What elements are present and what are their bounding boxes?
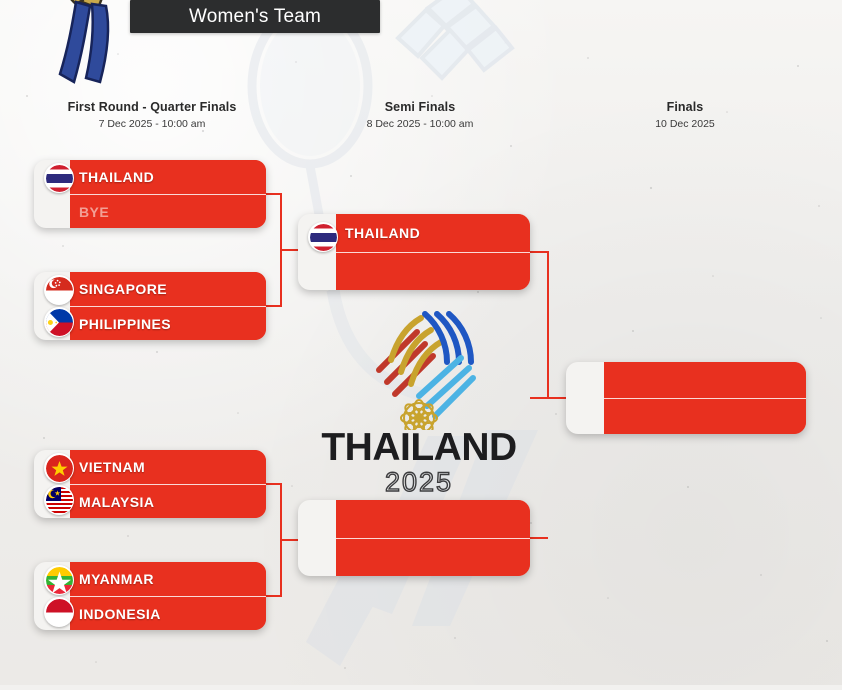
round-header-first-round: First Round - Quarter Finals 7 Dec 2025 … [40, 100, 264, 130]
round-name: Semi Finals [310, 100, 530, 114]
match-slots: THAILAND BYE [70, 160, 266, 228]
match-slot-top[interactable]: SINGAPORE [70, 272, 266, 306]
match-slot-bottom[interactable] [604, 398, 806, 434]
match-slot-top[interactable]: MYANMAR [70, 562, 266, 596]
round-name: Finals [580, 100, 790, 114]
match-slot-top[interactable]: THAILAND [336, 214, 530, 252]
match-card[interactable]: MYANMAR INDONESIA [34, 562, 266, 630]
team-name: PHILIPPINES [79, 316, 171, 332]
round-name: First Round - Quarter Finals [40, 100, 264, 114]
page-title: Women's Team [130, 0, 380, 33]
match-slots: VIETNAM MALAYSIA [70, 450, 266, 518]
match-slots: SINGAPORE PHILIPPINES [70, 272, 266, 340]
medal-icon [24, 0, 144, 84]
page-title-label: Women's Team [189, 6, 321, 28]
flag-thailand [308, 222, 338, 252]
match-slots [336, 500, 530, 576]
match-card[interactable] [566, 362, 806, 434]
flag-malaysia [44, 485, 74, 515]
team-name: MALAYSIA [79, 494, 154, 510]
team-name: MYANMAR [79, 571, 154, 587]
team-name: VIETNAM [79, 459, 145, 475]
round-date: 7 Dec 2025 - 10:00 am [40, 118, 264, 130]
match-slot-bottom[interactable]: PHILIPPINES [70, 306, 266, 340]
match-slot-top[interactable]: VIETNAM [70, 450, 266, 484]
match-slot-top[interactable] [604, 362, 806, 398]
match-slot-top[interactable] [336, 500, 530, 538]
team-name: THAILAND [79, 169, 154, 185]
round-header-semi-finals: Semi Finals 8 Dec 2025 - 10:00 am [310, 100, 530, 130]
sea-games-logo: THAILAND 2025 [321, 300, 517, 490]
team-name: THAILAND [345, 225, 420, 241]
match-slot-bottom[interactable] [336, 538, 530, 576]
logo-year-label: 2025 [321, 469, 517, 496]
round-date: 8 Dec 2025 - 10:00 am [310, 118, 530, 130]
flag-singapore [44, 275, 74, 305]
shuttlecock-watermark [388, 0, 538, 82]
match-slots [604, 362, 806, 434]
flag-indonesia [44, 597, 74, 627]
match-card[interactable]: VIETNAM MALAYSIA [34, 450, 266, 518]
bracket-canvas: Women's Team First Round - Quarter Final… [0, 0, 842, 685]
match-slot-bottom[interactable]: BYE [70, 194, 266, 228]
round-header-finals: Finals 10 Dec 2025 [580, 100, 790, 130]
match-card[interactable]: THAILAND BYE [34, 160, 266, 228]
team-name: INDONESIA [79, 606, 161, 622]
flag-vietnam [44, 453, 74, 483]
round-date: 10 Dec 2025 [580, 118, 790, 130]
team-name: BYE [79, 204, 109, 220]
team-name: SINGAPORE [79, 281, 167, 297]
flag-thailand [44, 163, 74, 193]
match-slot-top[interactable]: THAILAND [70, 160, 266, 194]
match-card[interactable]: SINGAPORE PHILIPPINES [34, 272, 266, 340]
match-slot-bottom[interactable]: MALAYSIA [70, 484, 266, 518]
match-slots: THAILAND [336, 214, 530, 290]
sea-games-ribbon-mark [321, 300, 517, 430]
match-slot-bottom[interactable]: INDONESIA [70, 596, 266, 630]
match-card[interactable]: THAILAND [298, 214, 530, 290]
match-card[interactable] [298, 500, 530, 576]
flag-philippines [44, 307, 74, 337]
flag-myanmar [44, 565, 74, 595]
logo-country-label: THAILAND [321, 428, 517, 467]
match-slot-bottom[interactable] [336, 252, 530, 290]
match-slots: MYANMAR INDONESIA [70, 562, 266, 630]
